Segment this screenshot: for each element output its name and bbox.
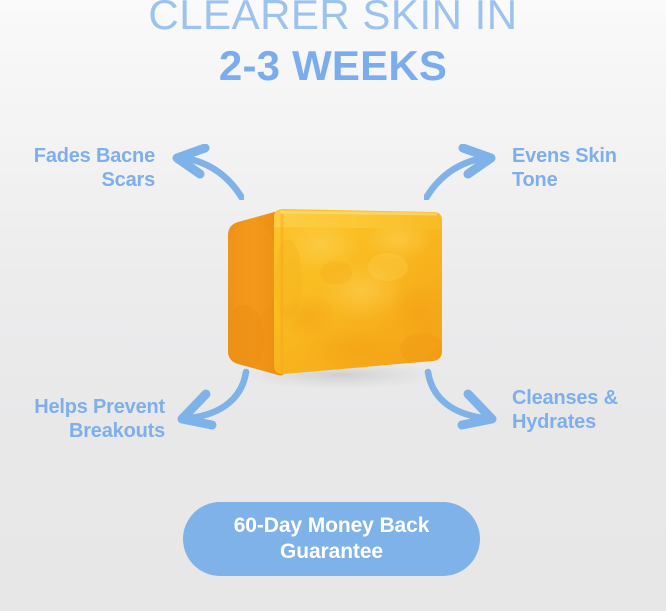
page-title: CLEARER SKIN IN 2-3 WEEKS [0,0,666,87]
product-benefits-infographic: CLEARER SKIN IN 2-3 WEEKS Fades Bacne Sc… [0,0,666,611]
benefit-label-helps-prevent-breakouts: Helps Prevent Breakouts [0,395,165,444]
guarantee-badge[interactable]: 60-Day Money Back Guarantee [183,502,480,576]
curved-arrow-left-icon [158,144,244,205]
curved-arrow-right-icon [424,144,510,205]
benefit-label-fades-bacne-scars: Fades Bacne Scars [0,144,155,193]
benefit-label-evens-skin-tone: Evens Skin Tone [512,144,666,193]
headline-line-2: 2-3 WEEKS [0,45,666,87]
benefit-label-cleanses-hydrates: Cleanses & Hydrates [512,386,666,435]
product-image-soap-bar [212,199,462,389]
guarantee-badge-label: 60-Day Money Back Guarantee [183,513,480,566]
headline-line-1: CLEARER SKIN IN [0,0,666,36]
